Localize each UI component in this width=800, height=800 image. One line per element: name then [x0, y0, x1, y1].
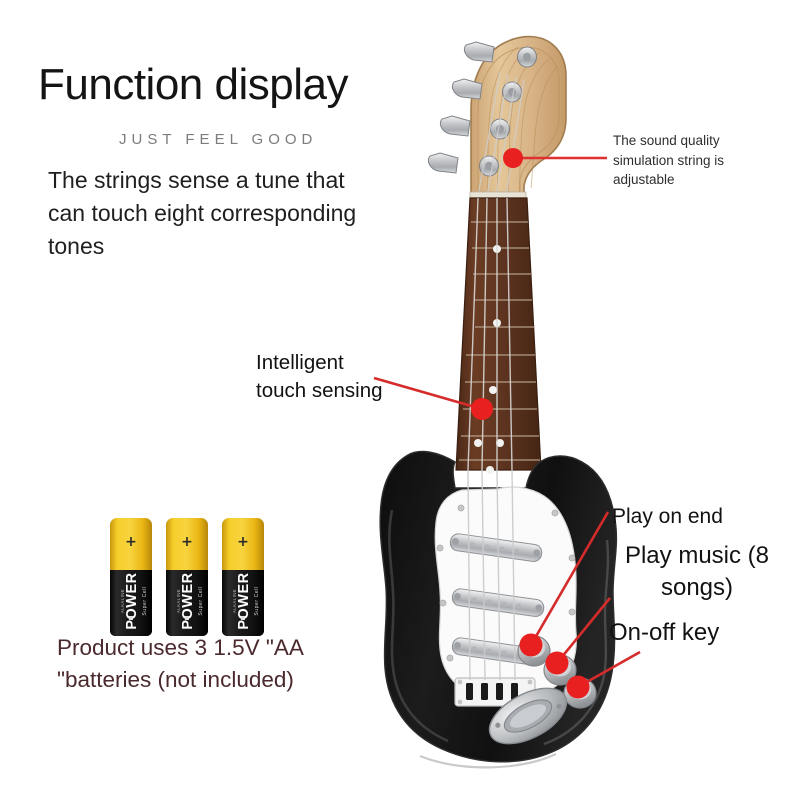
- svg-text:POWER: POWER: [124, 572, 140, 629]
- callout-sound-quality-label: The sound quality simulation string is a…: [613, 131, 773, 190]
- callout-dot-play-on-end: [520, 634, 543, 657]
- svg-text:Super Cell: Super Cell: [198, 586, 204, 615]
- svg-text:ALKALINE: ALKALINE: [232, 589, 237, 613]
- guitar-body: [380, 451, 616, 767]
- callout-on-off-key-label: On-off key: [609, 619, 719, 647]
- callout-touch-sensing-label: Intelligent touch sensing: [256, 349, 391, 406]
- guitar-fretboard: [456, 198, 541, 474]
- svg-text:+: +: [181, 534, 193, 550]
- aa-battery-group: + POWER Super Cell ALKALINE + POWER Supe…: [110, 518, 264, 636]
- aa-battery: + POWER Super Cell ALKALINE: [222, 518, 264, 636]
- callout-play-music-label: Play music (8 songs): [607, 540, 787, 603]
- svg-text:POWER: POWER: [236, 572, 252, 629]
- page-subtitle: JUST FEEL GOOD: [119, 131, 317, 148]
- aa-battery: + POWER Super Cell ALKALINE: [166, 518, 208, 636]
- svg-text:Super Cell: Super Cell: [254, 586, 260, 615]
- guitar-illustration: [380, 37, 616, 768]
- product-infographic: + POWER Super Cell ALKALINE + POWER Supe…: [0, 0, 800, 800]
- callout-dot-touch-sensing: [471, 398, 493, 420]
- svg-text:+: +: [237, 534, 249, 550]
- svg-text:ALKALINE: ALKALINE: [176, 589, 181, 613]
- callout-dot-on-off-key: [567, 676, 590, 699]
- page-title: Function display: [38, 62, 348, 108]
- callout-dot-sound-quality: [503, 148, 523, 168]
- battery-requirement-note: Product uses 3 1.5V "AA "batteries (not …: [57, 632, 377, 696]
- intro-paragraph: The strings sense a tune that can touch …: [48, 164, 378, 263]
- callout-dot-play-music: [546, 652, 569, 675]
- svg-text:+: +: [125, 534, 137, 550]
- svg-text:POWER: POWER: [180, 572, 196, 629]
- guitar-headstock: [428, 37, 566, 199]
- svg-text:Super Cell: Super Cell: [142, 586, 148, 615]
- svg-text:ALKALINE: ALKALINE: [120, 589, 125, 613]
- callout-play-on-end-label: Play on end: [612, 505, 723, 529]
- aa-battery: + POWER Super Cell ALKALINE: [110, 518, 152, 636]
